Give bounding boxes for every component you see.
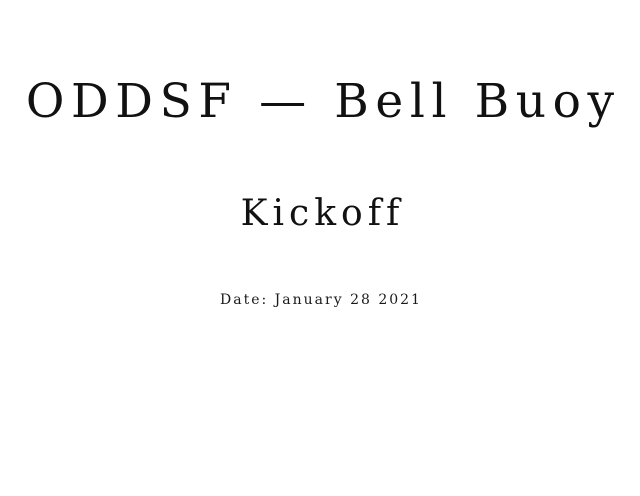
slide-title: ODDSF — Bell Buoy xyxy=(0,74,640,130)
slide-date-line: Date: January 28 2021 xyxy=(0,291,640,309)
slide-body-area xyxy=(0,330,640,496)
slide-subtitle: Kickoff xyxy=(0,192,640,236)
title-slide: ODDSF — Bell Buoy Kickoff Date: January … xyxy=(0,0,640,496)
